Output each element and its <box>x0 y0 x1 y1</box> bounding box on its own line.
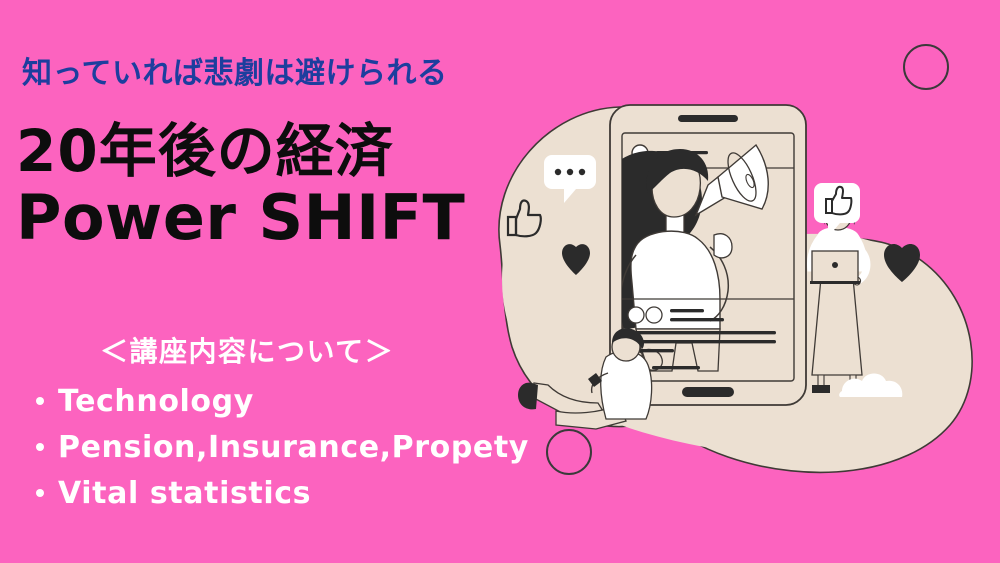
list-item: Technology <box>36 378 529 424</box>
course-content-list: Technology Pension,Insurance,Propety Vit… <box>36 378 529 516</box>
page-title: 20年後の経済 Power SHIFT <box>16 122 465 250</box>
bullet-dot-icon <box>36 489 44 497</box>
bullet-dot-icon <box>36 397 44 405</box>
list-item: Vital statistics <box>36 470 529 516</box>
laptop-icon <box>810 251 860 284</box>
phone-speaker-bar <box>678 115 738 122</box>
comment-avatar-circle-2 <box>646 307 662 323</box>
list-item: Pension,Insurance,Propety <box>36 424 529 470</box>
woman-right-hand <box>714 234 732 258</box>
standing-shoe-left <box>812 385 830 393</box>
promo-slide: 知っていれば悲劇は避けられる 20年後の経済 Power SHIFT ＜講座内容… <box>0 0 1000 563</box>
phone-home-bar <box>682 387 734 397</box>
comment-avatar-circle-1 <box>628 307 644 323</box>
bullet-dot-icon <box>36 443 44 451</box>
list-item-label: Pension,Insurance,Propety <box>58 430 529 465</box>
list-item-label: Vital statistics <box>58 476 311 511</box>
title-line-1: 20年後の経済 <box>16 117 394 185</box>
title-line-2: Power SHIFT <box>16 186 465 250</box>
slide-subtitle: 知っていれば悲劇は避けられる <box>22 48 448 92</box>
section-heading: ＜講座内容について＞ <box>100 330 394 370</box>
list-item-label: Technology <box>58 384 254 419</box>
text-column: 知っていれば悲劇は避けられる 20年後の経済 Power SHIFT ＜講座内容… <box>0 0 560 563</box>
deco-circle-top <box>903 44 949 90</box>
